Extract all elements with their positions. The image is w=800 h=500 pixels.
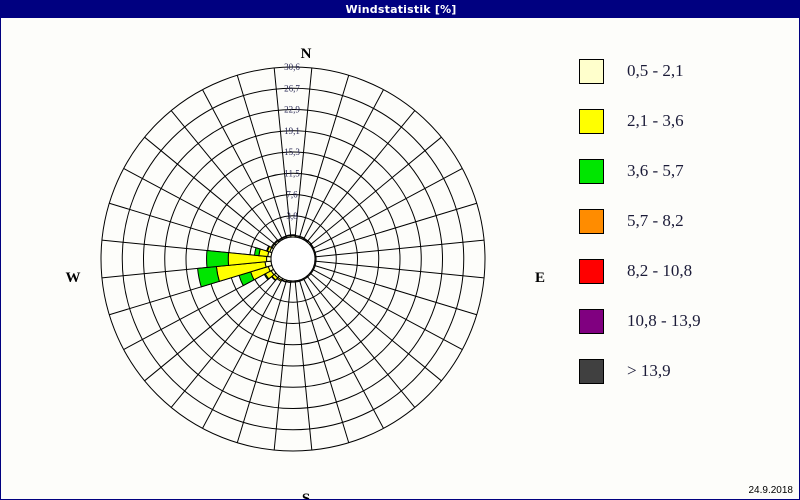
radial-tick-label: 19,1 (284, 126, 300, 136)
chart-canvas: 3,87,611,515,319,122,926,730,6 N E S W 0… (1, 18, 800, 500)
date-stamp: 24.9.2018 (749, 485, 794, 496)
legend-item: 3,6 - 5,7 (579, 146, 794, 196)
legend-item: 2,1 - 3,6 (579, 96, 794, 146)
legend-item: 8,2 - 10,8 (579, 246, 794, 296)
legend-color-swatch (579, 109, 604, 134)
legend-color-swatch (579, 309, 604, 334)
radial-tick-label: 30,6 (284, 62, 300, 72)
legend-item: > 13,9 (579, 346, 794, 396)
radial-tick-label: 22,9 (284, 105, 300, 115)
legend-item-label: 2,1 - 3,6 (627, 111, 684, 131)
window-title-bar: Windstatistik [%] (1, 1, 800, 18)
legend-color-swatch (579, 259, 604, 284)
wind-rose-svg: 3,87,611,515,319,122,926,730,6 (11, 18, 571, 500)
compass-label-west: W (61, 270, 85, 287)
legend-item: 5,7 - 8,2 (579, 196, 794, 246)
radial-tick-label: 15,3 (284, 147, 300, 157)
legend-item: 10,8 - 13,9 (579, 296, 794, 346)
speed-bin-legend: 0,5 - 2,12,1 - 3,63,6 - 5,75,7 - 8,28,2 … (579, 46, 794, 396)
compass-label-north: N (294, 46, 318, 63)
legend-item-label: 0,5 - 2,1 (627, 61, 684, 81)
legend-item-label: 5,7 - 8,2 (627, 211, 684, 231)
legend-color-swatch (579, 159, 604, 184)
legend-color-swatch (579, 209, 604, 234)
legend-item-label: 3,6 - 5,7 (627, 161, 684, 181)
calm-circle (271, 237, 315, 281)
legend-item-label: 10,8 - 13,9 (627, 311, 701, 331)
legend-color-swatch (579, 59, 604, 84)
radial-tick-label: 11,5 (284, 168, 300, 178)
radial-tick-label: 26,7 (284, 83, 300, 93)
compass-label-east: E (528, 270, 552, 287)
legend-item-label: 8,2 - 10,8 (627, 261, 692, 281)
radial-tick-label: 7,6 (286, 190, 298, 200)
radial-tick-labels: 3,87,611,515,319,122,926,730,6 (284, 62, 300, 221)
legend-item-label: > 13,9 (627, 361, 671, 381)
legend-item: 0,5 - 2,1 (579, 46, 794, 96)
compass-label-south: S (294, 491, 318, 500)
windrose-window: Windstatistik [%] 3,87,611,515,319,122,9… (0, 0, 800, 500)
wind-rose-plot: 3,87,611,515,319,122,926,730,6 N E S W (11, 18, 571, 500)
radial-tick-label: 3,8 (286, 211, 298, 221)
legend-color-swatch (579, 359, 604, 384)
